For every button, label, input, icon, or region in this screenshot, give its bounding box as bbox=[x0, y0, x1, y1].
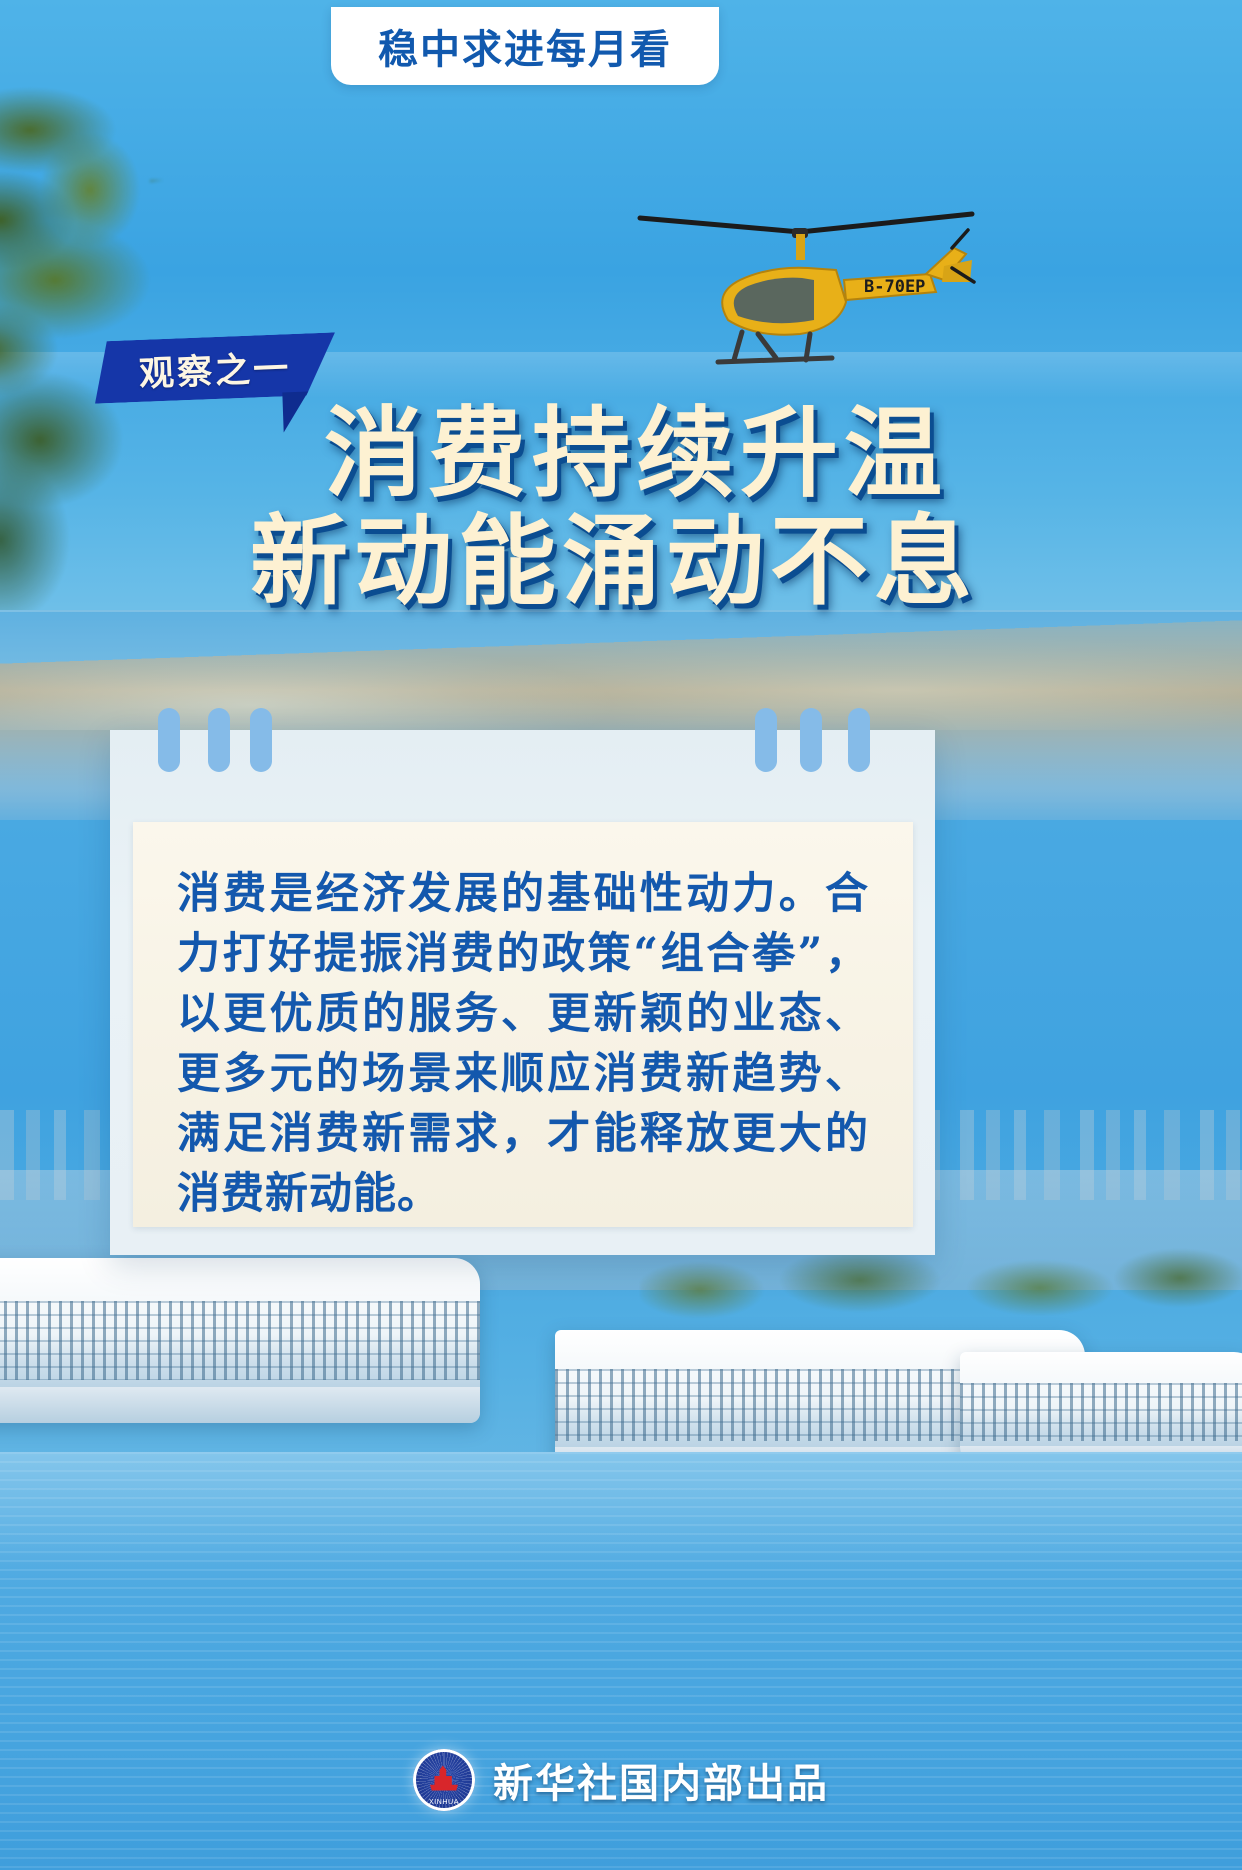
helicopter-icon: B-70EP bbox=[600, 170, 1000, 390]
page-title-line-1: 消费持续升温 bbox=[30, 400, 1242, 508]
ship-decks bbox=[0, 1301, 480, 1380]
notebook-ring bbox=[250, 708, 272, 772]
water-highlight bbox=[0, 1452, 1242, 1572]
notebook-ring bbox=[800, 708, 822, 772]
quote-card: 消费是经济发展的基础性动力。合力打好提振消费的政策“组合拳”，以更优质的服务、更… bbox=[110, 730, 935, 1255]
notebook-ring bbox=[158, 708, 180, 772]
logo-seal-text: XINHUA bbox=[413, 1799, 475, 1806]
helicopter-photo: B-70EP bbox=[600, 170, 1000, 390]
notebook-rings bbox=[110, 708, 935, 778]
page-title-line-2: 新动能涌动不息 bbox=[0, 508, 1242, 616]
ship-hull bbox=[0, 1387, 480, 1423]
quote-body-text: 消费是经济发展的基础性动力。合力打好提振消费的政策“组合拳”，以更优质的服务、更… bbox=[177, 864, 869, 1224]
footer: XINHUA 新华社国内部出品 bbox=[0, 1740, 1242, 1820]
cruise-ship-left bbox=[0, 1258, 480, 1423]
xinhua-logo-icon: XINHUA bbox=[413, 1749, 475, 1811]
series-banner: 稳中求进每月看 bbox=[331, 7, 719, 85]
section-tag-label: 观察之一 bbox=[138, 340, 292, 397]
ship-decks bbox=[960, 1383, 1242, 1441]
page-title: 消费持续升温 新动能涌动不息 bbox=[0, 400, 1242, 616]
quote-paper: 消费是经济发展的基础性动力。合力打好提振消费的政策“组合拳”，以更优质的服务、更… bbox=[133, 822, 913, 1227]
footer-credit: 新华社国内部出品 bbox=[493, 1751, 829, 1809]
helicopter-registration-text: B-70EP bbox=[864, 277, 925, 297]
notebook-ring bbox=[848, 708, 870, 772]
poster-root: B-70EP 稳中求进每月看 观察之一 消费持续升温 新动能涌动不息 bbox=[0, 0, 1242, 1870]
notebook-ring bbox=[755, 708, 777, 772]
series-banner-label: 稳中求进每月看 bbox=[378, 17, 672, 75]
notebook-ring bbox=[208, 708, 230, 772]
